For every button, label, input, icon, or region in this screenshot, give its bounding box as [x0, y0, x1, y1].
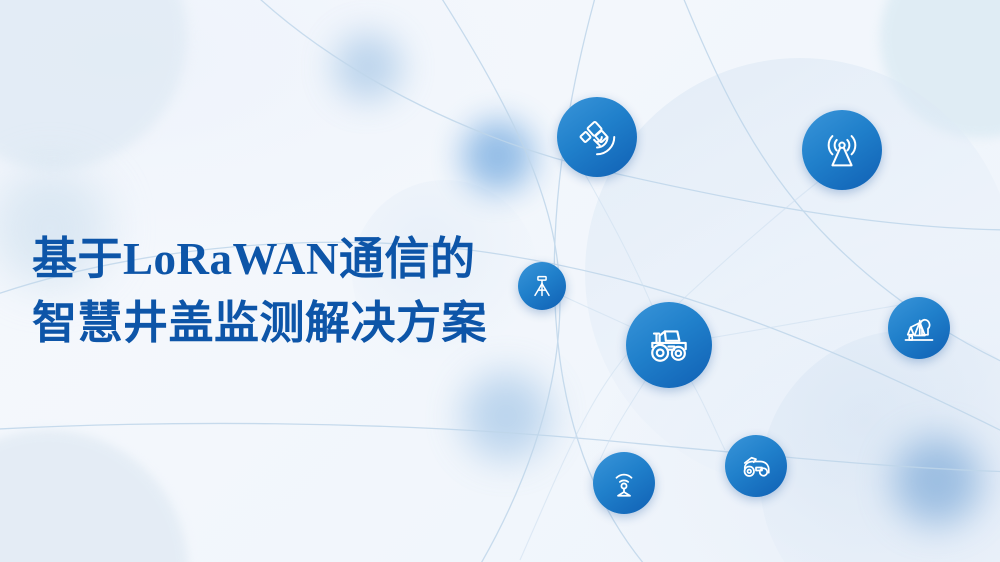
node-lawn-mower[interactable] — [725, 435, 787, 497]
tractor-icon — [644, 320, 694, 370]
slide-title-line-2: 智慧井盖监测解决方案 — [32, 292, 487, 356]
slide-title-line-1: 基于LoRaWAN通信的 — [32, 228, 487, 292]
survey-tripod-icon — [528, 272, 556, 300]
node-oil-pumpjack[interactable] — [888, 297, 950, 359]
radio-tower-icon — [819, 127, 865, 173]
satellite-signal-icon — [574, 114, 620, 160]
node-survey-tripod[interactable] — [518, 262, 566, 310]
slide-title-block: 基于LoRaWAN通信的 智慧井盖监测解决方案 — [32, 228, 487, 356]
slide-canvas: 基于LoRaWAN通信的 智慧井盖监测解决方案 — [0, 0, 1000, 562]
node-tractor[interactable] — [626, 302, 712, 388]
lawn-mower-icon — [738, 448, 774, 484]
wireless-sensor-icon — [606, 465, 642, 501]
oil-pumpjack-icon — [901, 310, 937, 346]
node-radio-tower[interactable] — [802, 110, 882, 190]
node-wireless-sensor[interactable] — [593, 452, 655, 514]
node-satellite[interactable] — [557, 97, 637, 177]
